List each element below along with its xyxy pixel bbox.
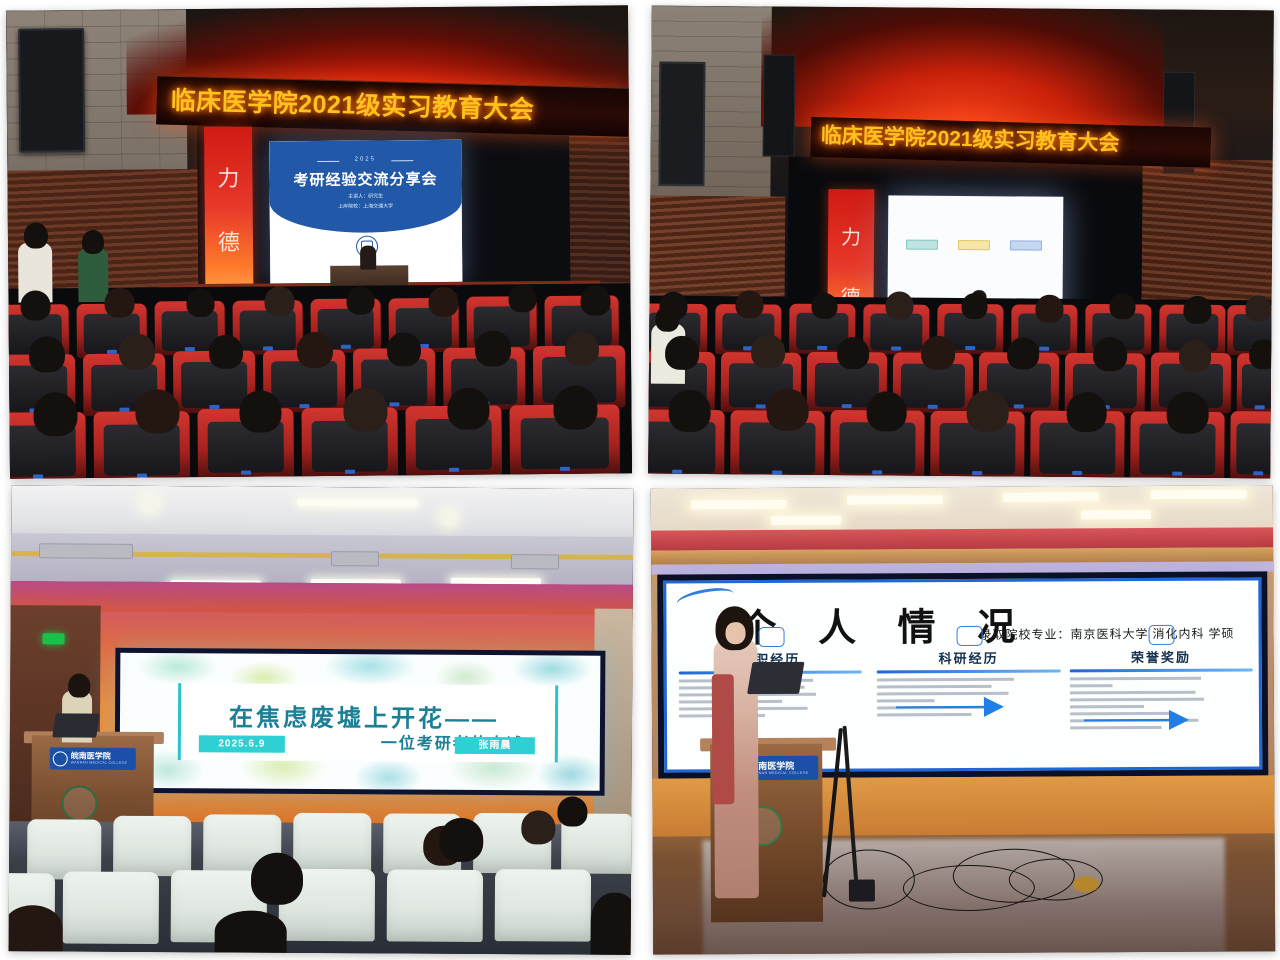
standing-attendee-2-head: [82, 230, 104, 254]
attendee-head-front: [9, 905, 63, 951]
speaker-vest: [712, 674, 735, 804]
wall-display-panel: [18, 28, 85, 153]
red-vertical-banner: 力 德: [204, 127, 254, 307]
ceiling-light-4: [1151, 490, 1247, 500]
section-badge-icon: [1149, 625, 1175, 645]
slide-title: 考研经验交流分享会: [269, 168, 461, 191]
photo-top-right: 临床医学院2021级实习教育大会 力 德: [648, 6, 1274, 479]
standing-attendee-head: [24, 222, 48, 248]
attendee-head: [557, 796, 587, 826]
exit-sign-icon: [42, 633, 64, 644]
chair: [27, 819, 101, 879]
slide-admission-line: 录取院校专业：南京医科大学 消化内科 学硕: [979, 625, 1234, 643]
seated-speaker: [360, 246, 376, 270]
ceiling-light-2: [847, 495, 943, 505]
school-emblem-icon: [53, 751, 68, 766]
photo-top-left: 临床医学院2021级实习教育大会 力 德 2025 考研经验交流分享会 主讲人：…: [6, 5, 632, 478]
ceiling-spotlight-1: [141, 496, 157, 512]
podium-name-plate: 皖南医学院 WANNAN MEDICAL COLLEGE: [50, 747, 136, 770]
ceiling-vent-1: [39, 543, 133, 559]
chair: [495, 869, 591, 942]
laptop: [52, 713, 100, 737]
speaker-face: [725, 622, 745, 644]
attendee-head: [521, 810, 555, 844]
led-wall-screen: 在焦虑废墟上开花—— 一位考研者的自述 2025.6.9 张雨晨: [115, 648, 606, 796]
banner-char-1: 力: [204, 161, 252, 193]
section-rule: [877, 669, 1061, 673]
wall-top-accent: [11, 581, 633, 615]
floor-cable: [823, 849, 915, 909]
section-arrow-icon: [1084, 719, 1187, 722]
wall-display-panel: [658, 62, 705, 186]
standing-attendee-2: [78, 248, 108, 302]
chair: [63, 871, 159, 944]
speaker-head: [68, 673, 90, 697]
laptop: [747, 662, 804, 694]
chair: [387, 869, 483, 942]
attendee-head-front: [215, 910, 287, 952]
section-heading: 科研经历: [877, 647, 1061, 667]
audience-area: [648, 296, 1271, 479]
banner-char-2: 德: [205, 225, 253, 257]
attendee-head: [439, 818, 483, 862]
presentation-slide: 在焦虑废墟上开花—— 一位考研者的自述 2025.6.9 张雨晨: [120, 653, 601, 791]
photo-collage: 临床医学院2021级实习教育大会 力 德 2025 考研经验交流分享会 主讲人：…: [0, 0, 1280, 960]
chair: [113, 816, 191, 876]
slide-title-line-1: 在焦虑废墟上开花——: [229, 697, 499, 734]
slide-chip-1: [906, 240, 938, 250]
section-heading: 荣誉奖励: [1069, 646, 1253, 666]
slide-chip-2: [958, 240, 990, 250]
podium-school-name-en: WANNAN MEDICAL COLLEGE: [71, 760, 128, 764]
attendee-head: [251, 853, 303, 905]
slide-chip-3: [1010, 240, 1042, 250]
photo-bottom-right: 个 人 情 况 录取院校专业：南京医科大学 消化内科 学硕 任职经历 科: [651, 485, 1275, 954]
standing-attendee-head: [655, 306, 679, 332]
slide-subtitle-2: 上岸院校：上海交通大学: [270, 202, 462, 212]
section-body-text: [1069, 676, 1253, 729]
banner-char-1: 力: [828, 221, 874, 250]
ceiling-vent-3: [511, 554, 559, 569]
chair: [293, 813, 371, 873]
slide-card: 在焦虑废墟上开花—— 一位考研者的自述 2025.6.9 张雨晨: [178, 683, 558, 762]
audience-area: [8, 283, 632, 478]
ceiling-light-1: [691, 500, 787, 510]
led-banner-text: 临床医学院2021级实习教育大会: [820, 119, 1209, 163]
ceiling-strip-light-1: [297, 499, 417, 507]
ceiling-spotlight-2: [441, 510, 457, 526]
section-rule: [1069, 668, 1253, 672]
slide-section-3: 荣誉奖励: [1069, 646, 1253, 733]
section-body-text: [877, 677, 1061, 716]
section-badge-icon: [758, 627, 784, 647]
ceiling-vent-2: [331, 551, 379, 566]
section-arrow-icon: [895, 706, 1001, 709]
podium-seal-emblem: [61, 785, 97, 821]
ceiling-light-6: [1081, 510, 1151, 519]
slide-section-2: 科研经历: [877, 647, 1061, 720]
attendee-head-front: [591, 893, 634, 955]
slide-date-pill: 2025.6.9: [199, 735, 285, 753]
ceiling-red-glow: [761, 6, 1164, 129]
slide-speaker-pill: 张雨晨: [455, 737, 535, 754]
ceiling-light-5: [771, 516, 841, 525]
line-array-speaker-left: [763, 54, 796, 156]
wireless-mic-on-floor: [1073, 876, 1099, 892]
led-banner-text: 临床医学院2021级实习教育大会: [170, 81, 625, 133]
ceiling-light-3: [1003, 492, 1099, 502]
section-badge-icon: [956, 626, 982, 646]
photo-bottom-left: 在焦虑废墟上开花—— 一位考研者的自述 2025.6.9 张雨晨 皖南医学院 W…: [9, 485, 634, 955]
slide-subtitle-1: 主讲人：研究生: [270, 192, 462, 202]
